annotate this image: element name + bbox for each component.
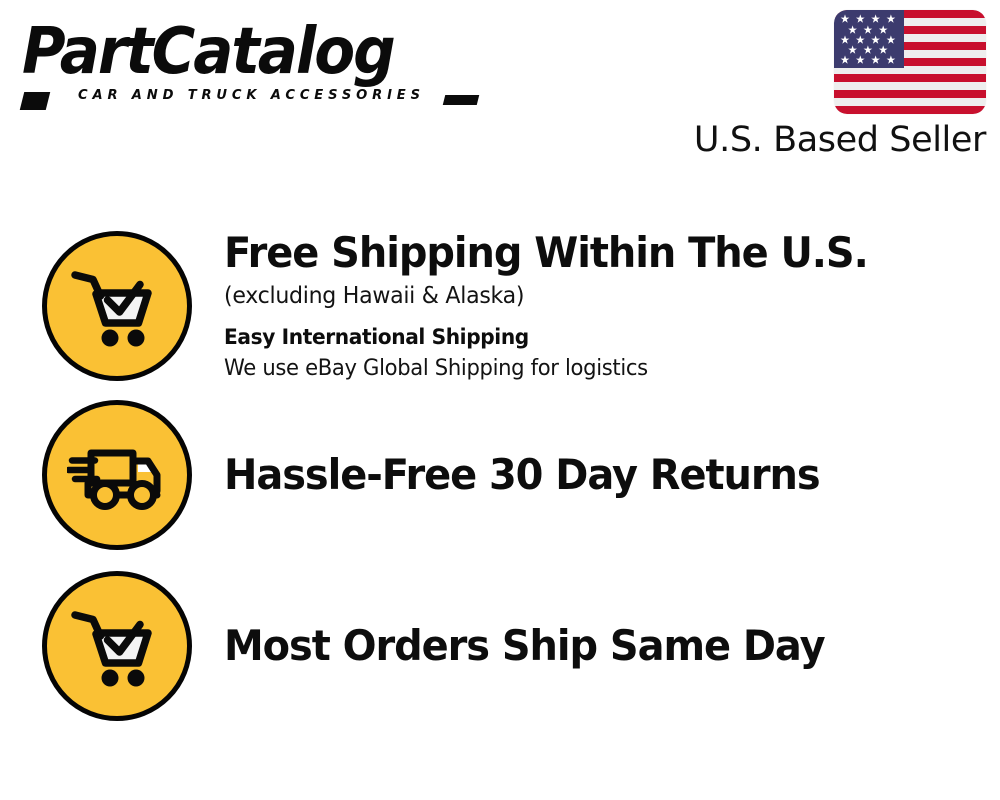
us-flag-icon xyxy=(834,10,986,114)
feature-title: Free Shipping Within The U.S. xyxy=(224,228,942,278)
feature-text: Most Orders Ship Same Day xyxy=(224,621,1000,671)
feature-row: Hassle-Free 30 Day Returns xyxy=(0,400,1000,550)
feature-text: Free Shipping Within The U.S. (excluding… xyxy=(224,228,1000,384)
us-based-seller-label: U.S. Based Seller xyxy=(694,120,986,160)
us-based-seller-badge: U.S. Based Seller xyxy=(694,10,986,160)
shopping-cart-check-icon xyxy=(42,231,192,381)
shopping-cart-check-icon xyxy=(42,571,192,721)
brand-logo: PartCatalog CAR AND TRUCK ACCESSORIES xyxy=(22,18,492,103)
banner-header: PartCatalog CAR AND TRUCK ACCESSORIES xyxy=(0,0,1000,175)
feature-title: Hassle-Free 30 Day Returns xyxy=(224,450,942,500)
feature-sub-strong: Easy International Shipping xyxy=(224,322,950,352)
brand-wordmark: PartCatalog xyxy=(22,18,459,86)
feature-title: Most Orders Ship Same Day xyxy=(224,621,942,671)
feature-row: Most Orders Ship Same Day xyxy=(0,571,1000,721)
brand-tagline: CAR AND TRUCK ACCESSORIES xyxy=(78,87,480,103)
feature-subtitle: (excluding Hawaii & Alaska) xyxy=(224,280,950,312)
promo-banner: PartCatalog CAR AND TRUCK ACCESSORIES xyxy=(0,0,1000,800)
feature-text: Hassle-Free 30 Day Returns xyxy=(224,450,1000,500)
logo-accent-left xyxy=(20,92,50,110)
feature-sub-note: We use eBay Global Shipping for logistic… xyxy=(224,353,950,384)
feature-row: Free Shipping Within The U.S. (excluding… xyxy=(0,228,1000,384)
delivery-truck-icon xyxy=(42,400,192,550)
logo-accent-right xyxy=(443,95,479,105)
